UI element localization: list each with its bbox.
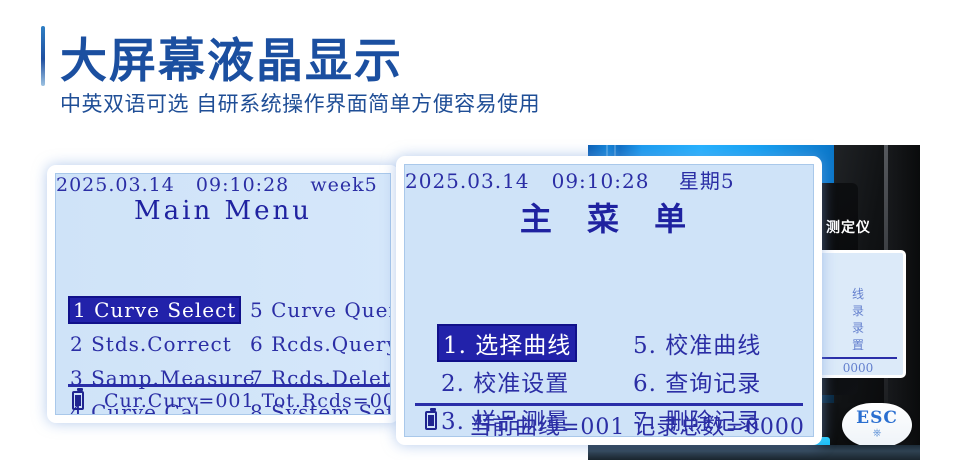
device-mini-lcd: 线 录 录 置 0000 [810, 250, 906, 378]
menu-item-curve-select[interactable]: 1 Curve Select [68, 296, 241, 324]
menu-item-query-records[interactable]: 6. 查询记录 [633, 364, 761, 398]
page-subtitle: 中英双语可选 自研系统操作界面简单方便容易使用 [60, 88, 540, 118]
lcd-en-date: 2025.03.14 [56, 174, 175, 196]
menu-item-label: 选择曲线 [475, 333, 571, 359]
mini-lcd-line: 置 [813, 336, 903, 353]
menu-item-curve-query[interactable]: 5 Curve Query [250, 298, 391, 322]
battery-icon [72, 391, 84, 410]
menu-item-calibration-settings[interactable]: 2. 校准设置 [441, 364, 569, 398]
menu-item-select-curve[interactable]: 1. 选择曲线 [437, 324, 577, 362]
esc-button[interactable]: ESC ⎈ [842, 403, 912, 447]
power-icon: ⎈ [842, 428, 912, 438]
lcd-cn-date: 2025.03.14 [405, 169, 530, 193]
mini-lcd-line: 录 [813, 302, 903, 319]
menu-item-label: 校准曲线 [665, 333, 761, 359]
lcd-en-heading: Main Menu [56, 196, 390, 226]
mini-lcd-footer: 0000 [813, 361, 903, 375]
menu-item-label: Curve Select [94, 298, 236, 322]
lcd-en-topbar: 2025.03.14 09:10:28 week5 [56, 174, 390, 196]
accent-bar [41, 26, 45, 86]
menu-item-rcds-query[interactable]: 6 Rcds.Query [250, 332, 391, 356]
lcd-screen-chinese: 2025.03.14 09:10:28 星期5 主 菜 单 1. 选择曲线 2.… [404, 164, 814, 437]
lcd-cn-weekday: 星期5 [679, 169, 735, 193]
menu-item-number: 5 [250, 298, 264, 322]
mini-lcd-line: 线 [813, 285, 903, 302]
menu-item-label: Curve Query [271, 298, 391, 322]
menu-item-stds-correct[interactable]: 2 Stds.Correct [70, 332, 232, 356]
lcd-panel-english: 2025.03.14 09:10:28 week5 Main Menu 1 Cu… [47, 165, 399, 423]
device-model-label: 测定仪 [826, 217, 871, 237]
menu-item-number: 6. [633, 371, 657, 397]
lcd-en-status: Cur.Curv=001 Tot.Rcds=0000 [104, 390, 391, 412]
lcd-cn-status: 当前曲线=001 记录总数=0000 [469, 409, 805, 437]
battery-icon [425, 411, 437, 430]
menu-item-number: 5. [633, 333, 657, 359]
menu-item-number: 1 [73, 298, 87, 322]
page-title: 大屏幕液晶显示 [60, 22, 403, 91]
mini-lcd-divider [819, 357, 897, 359]
menu-item-number: 2 [70, 332, 84, 356]
menu-item-label: 校准设置 [473, 371, 569, 397]
lcd-cn-divider [415, 403, 803, 406]
lcd-cn-topbar: 2025.03.14 09:10:28 星期5 [405, 165, 813, 194]
esc-button-label: ESC [842, 408, 912, 428]
menu-item-number: 2. [441, 371, 465, 397]
lcd-screen-english: 2025.03.14 09:10:28 week5 Main Menu 1 Cu… [55, 173, 391, 415]
lcd-panel-chinese: 2025.03.14 09:10:28 星期5 主 菜 单 1. 选择曲线 2.… [396, 156, 822, 445]
menu-item-number: 3. [441, 409, 465, 435]
menu-item-calibration-curve[interactable]: 5. 校准曲线 [633, 326, 761, 360]
lcd-en-weekday: week5 [310, 174, 377, 196]
lcd-cn-time: 09:10:28 [552, 169, 650, 193]
lcd-en-divider [68, 384, 391, 387]
lcd-cn-heading: 主 菜 单 [405, 194, 813, 240]
menu-item-number: 1. [443, 333, 467, 359]
menu-item-label: 查询记录 [665, 371, 761, 397]
lcd-en-time: 09:10:28 [196, 174, 289, 196]
header-banner: 大屏幕液晶显示 中英双语可选 自研系统操作界面简单方便容易使用 [0, 0, 980, 140]
menu-item-label: Rcds.Query [271, 332, 391, 356]
mini-lcd-line: 录 [813, 319, 903, 336]
menu-item-number: 6 [250, 332, 264, 356]
menu-item-label: Stds.Correct [91, 332, 232, 356]
device-base [588, 445, 920, 460]
